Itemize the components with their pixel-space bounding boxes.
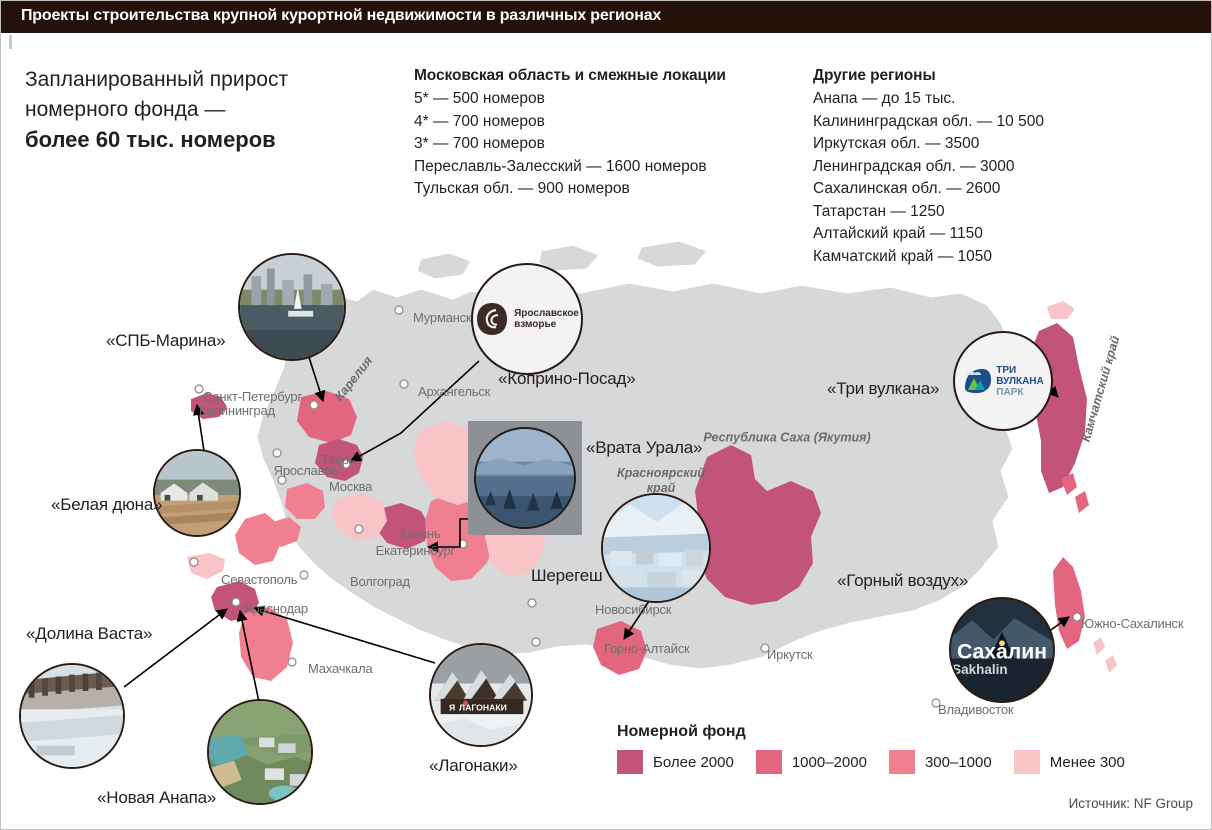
photo-sheregesh[interactable] <box>601 493 711 603</box>
logo-koprino-line-2: взморье <box>514 319 579 330</box>
legend-swatch <box>756 750 782 774</box>
photo-vrata-urala-image <box>476 429 574 527</box>
logo-tri-vulkana[interactable]: ТРИ ВУЛКАНА ПАРК <box>953 331 1053 431</box>
city-dot <box>400 380 408 388</box>
photo-sakhalin-image: Сахалин Sakhalin <box>951 599 1053 701</box>
logo-vulkana-text: ТРИ ВУЛКАНА ПАРК <box>996 365 1043 398</box>
city-dot <box>288 658 296 666</box>
city-dot <box>528 599 536 607</box>
legend-item: Более 2000 <box>617 750 734 774</box>
photo-sheregesh-image <box>603 495 709 601</box>
city-dot <box>310 401 318 409</box>
region-chukotka-spot <box>1047 301 1075 319</box>
city-label: Краснодар <box>245 601 308 616</box>
logo-koprino-posad[interactable]: Ярославское взморье <box>471 263 583 375</box>
city-label: Санкт-Петербург <box>203 389 302 404</box>
logo-koprino-line-1: Ярославское <box>514 308 579 319</box>
city-dot <box>232 598 240 606</box>
legend-item: Менее 300 <box>1014 750 1125 774</box>
city-label: Новосибирск <box>595 602 671 617</box>
leader-dolina-vasta <box>124 609 227 687</box>
callout-label-belaya-dyuna: «Белая дюна» <box>51 495 162 515</box>
city-label: Москва <box>329 479 372 494</box>
legend-item: 1000–2000 <box>756 750 867 774</box>
logo-vulkana-line-3: ПАРК <box>996 387 1043 398</box>
legend-item: 300–1000 <box>889 750 992 774</box>
city-label: Иркутск <box>767 647 813 662</box>
city-label: Махачкала <box>308 661 373 676</box>
photo-novaya-anapa[interactable] <box>207 699 313 805</box>
photo-spb-marina-image <box>240 255 344 359</box>
city-dot <box>1073 613 1081 621</box>
logo-vulkana-line-2: ВУЛКАНА <box>996 376 1043 387</box>
legend-swatch <box>617 750 643 774</box>
city-label: Владивосток <box>938 702 1013 717</box>
infographic-page: Проекты строительства крупной курортной … <box>0 0 1212 830</box>
city-dot <box>195 385 203 393</box>
region-central-obl <box>235 513 281 565</box>
city-dot <box>300 571 308 579</box>
callout-label-sheregesh: Шерегеш <box>531 566 602 586</box>
city-label: Калининград <box>199 403 275 418</box>
region-kuril-north <box>1075 491 1089 513</box>
city-dot <box>395 306 403 314</box>
region-label: Красноярскийкрай <box>617 466 705 496</box>
svg-text:Я: Я <box>449 702 455 712</box>
tri-vulkana-icon <box>962 366 992 396</box>
region-kuril-1 <box>1093 637 1105 655</box>
city-label: Южно-Сахалинск <box>1081 616 1183 631</box>
photo-novaya-anapa-image <box>209 701 311 803</box>
map-legend: Номерной фонд Более 20001000–2000300–100… <box>617 723 1147 774</box>
callout-label-tri-vulkana: «Три вулкана» <box>827 379 939 399</box>
city-dot <box>532 638 540 646</box>
city-dot <box>273 449 281 457</box>
photo-vrata-urala-frame[interactable] <box>468 421 582 535</box>
callout-label-lagonaki: «Лагонаки» <box>429 756 518 776</box>
legend-swatch <box>889 750 915 774</box>
city-label: Мурманск <box>413 310 472 325</box>
region-label: Республика Саха (Якутия) <box>703 431 870 446</box>
photo-spb-marina[interactable] <box>238 253 346 361</box>
photo-belaya-dyuna[interactable] <box>153 449 241 537</box>
city-label: Екатеринбург <box>376 543 455 558</box>
logo-koprino-text: Ярославское взморье <box>514 308 579 330</box>
city-label: Севастополь <box>221 572 297 587</box>
yaroslavskoe-vzmorye-icon <box>475 301 509 337</box>
photo-lagonaki-image: ЛАГОНАКИ Я <box>431 645 531 745</box>
photo-vrata-urala <box>474 427 576 529</box>
svg-text:Sakhalin: Sakhalin <box>952 662 1007 677</box>
city-dot <box>355 525 363 533</box>
logo-vulkana-line-1: ТРИ <box>996 365 1043 376</box>
city-label: Архангельск <box>418 384 490 399</box>
legend-swatch <box>1014 750 1040 774</box>
city-label: Ярославль <box>274 463 338 478</box>
legend-label: Менее 300 <box>1050 754 1125 771</box>
photo-dolina-vasta[interactable] <box>19 663 125 769</box>
callout-label-dolina-vasta: «Долина Васта» <box>26 624 152 644</box>
svg-text:Сахалин: Сахалин <box>957 641 1047 664</box>
city-label: Горно-Алтайск <box>604 641 690 656</box>
callout-label-spb-marina: «СПБ-Марина» <box>106 331 225 351</box>
legend-items-row: Более 20001000–2000300–1000Менее 300 <box>617 750 1147 774</box>
callout-label-vrata-urala: «Врата Урала» <box>586 438 702 458</box>
region-sakhalinskaya-obl <box>1053 557 1085 649</box>
city-label: Волгоград <box>350 574 410 589</box>
photo-dolina-vasta-image <box>21 665 123 767</box>
legend-label: 1000–2000 <box>792 754 867 771</box>
city-dot <box>190 558 198 566</box>
legend-heading: Номерной фонд <box>617 723 1147 741</box>
callout-label-gornyy-vozduh: «Горный воздух» <box>837 571 968 591</box>
city-label: Казань <box>400 526 441 541</box>
photo-belaya-dyuna-image <box>155 451 239 535</box>
legend-label: Более 2000 <box>653 754 734 771</box>
legend-label: 300–1000 <box>925 754 992 771</box>
photo-lagonaki[interactable]: ЛАГОНАКИ Я <box>429 643 533 747</box>
callout-label-koprino-posad: «Коприно-Посад» <box>498 369 635 389</box>
region-kuril-2 <box>1105 655 1117 673</box>
photo-sakhalin[interactable]: Сахалин Sakhalin <box>949 597 1055 703</box>
callout-label-novaya-anapa: «Новая Анапа» <box>97 788 216 808</box>
source-note: Источник: NF Group <box>1069 796 1193 811</box>
